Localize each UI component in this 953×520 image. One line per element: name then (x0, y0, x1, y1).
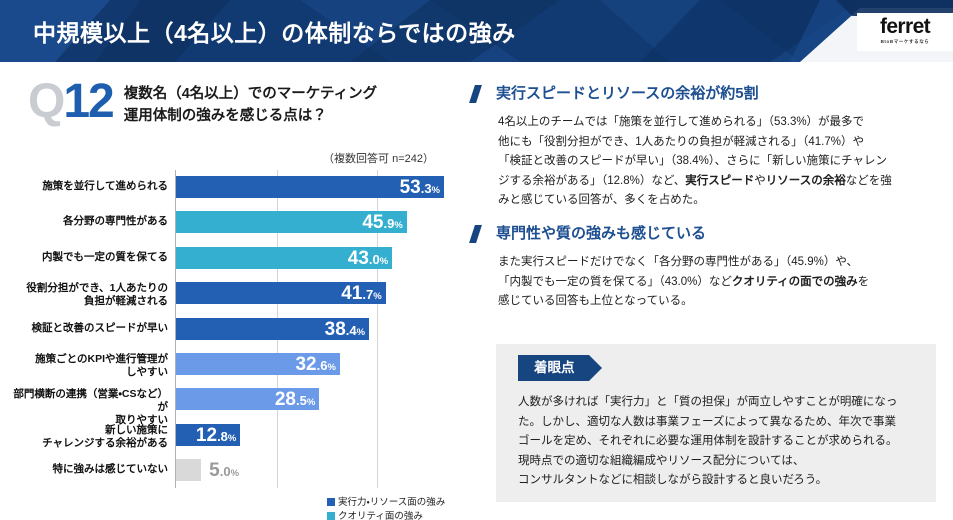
bar-category-label: 役割分担ができ、1人あたりの負担が軽減される (8, 282, 168, 308)
chart-legend: 実行力・リソース面の強みクオリティ面の強みその他の強み (327, 496, 445, 520)
section-1-heading-text: 実行スピードとリソースの余裕が約5割 (496, 85, 759, 102)
slash-accent-icon (469, 225, 482, 243)
section-1-bold-2: リソースの余裕 (766, 175, 846, 187)
bar-category-label: 検証と改善のスピードが早い (8, 322, 168, 335)
bar-category-label: 施策ごとのKPIや進行管理がしやすい (8, 353, 168, 379)
bar-category-label: 新しい施策にチャレンジする余裕がある (8, 424, 168, 450)
legend-item: 実行力・リソース面の強み (327, 496, 445, 510)
bar-value-dec: .7 (362, 287, 373, 302)
chart-bar-row: 施策ごとのKPIや進行管理がしやすい32.6% (0, 353, 470, 375)
bar-value-int: 43 (348, 248, 369, 269)
bar-value-label: 53.3% (400, 178, 440, 197)
legend-label: 実行力・リソース面の強み (338, 497, 445, 508)
chart-bar-row: 役割分担ができ、1人あたりの負担が軽減される41.7% (0, 282, 470, 304)
logo-tagline: BtoBマーケするなら (857, 39, 953, 45)
bar-value-int: 5 (209, 460, 220, 481)
bar-value-dec: .0 (369, 252, 380, 267)
legend-swatch-icon (327, 512, 335, 520)
section-1-body-mid: や (754, 175, 766, 187)
section-2: 専門性や質の強みも感じている また実行スピードだけでなく「各分野の専門性がある」… (470, 224, 953, 312)
chart-bar (176, 459, 201, 481)
legend-item: クオリティ面の強み (327, 510, 445, 520)
bar-category-label: 内製でも一定の質を保てる (8, 251, 168, 264)
bar-label-line: 施策を並行して進められる (8, 180, 168, 193)
bar-value-pct: % (228, 433, 236, 444)
section-2-heading: 専門性や質の強みも感じている (470, 224, 953, 244)
chart-bar-row: 部門横断の連携（営業・CSなど）が取りやすい28.5% (0, 388, 470, 410)
callout-body: 人数が多ければ「実行力」と「質の担保」が両立しやすことが明確になっ た。しかし、… (518, 393, 918, 491)
bar-category-label: 施策を並行して進められる (8, 180, 168, 193)
slide-root: 中規模以上（4名以上）の体制ならではの強み ferret BtoBマーケするなら… (0, 0, 953, 520)
question-number: Q12 (28, 80, 113, 124)
section-2-heading-text: 専門性や質の強みも感じている (496, 225, 706, 242)
bar-value-label: 5.0% (209, 461, 239, 480)
bar-value-label: 45.9% (362, 213, 402, 232)
bar-value-int: 41 (341, 283, 362, 304)
bar-value-dec: .8 (217, 429, 228, 444)
question-text-line1: 複数名（4名以上）でのマーケティング (124, 83, 377, 105)
bar-value-dec: .6 (317, 358, 328, 373)
logo-wordmark: ferret (857, 15, 953, 39)
section-1-body: 4名以上のチームでは「施策を並行して進められる」（53.3%）が最多で 他にも「… (498, 113, 953, 211)
bar-value-pct: % (327, 362, 335, 373)
bar-value-label: 41.7% (341, 284, 381, 303)
insight-callout: 着眼点 人数が多ければ「実行力」と「質の担保」が両立しやすことが明確になっ た。… (496, 344, 936, 502)
bar-value-pct: % (357, 327, 365, 338)
bar-label-line: 各分野の専門性がある (8, 215, 168, 228)
bar-value-dec: .9 (383, 216, 394, 231)
bar-label-line: 役割分担ができ、1人あたりの (8, 282, 168, 295)
bar-value-label: 38.4% (325, 320, 365, 339)
bar-value-label: 28.5% (275, 390, 315, 409)
bar-category-label: 各分野の専門性がある (8, 215, 168, 228)
right-column: 実行スピードとリソースの余裕が約5割 4名以上のチームでは「施策を並行して進めら… (470, 62, 953, 520)
bar-value-label: 12.8% (196, 426, 236, 445)
bar-category-label: 特に強みは感じていない (8, 463, 168, 476)
slide-header: 中規模以上（4名以上）の体制ならではの強み ferret BtoBマーケするなら (0, 0, 953, 62)
bar-label-line: しやすい (8, 366, 168, 379)
section-2-body: また実行スピードだけでなく「各分野の専門性がある」（45.9%）や、 「内製でも… (498, 253, 953, 312)
bar-value-pct: % (307, 397, 315, 408)
callout-tag: 着眼点 (518, 355, 589, 381)
bar-chart: 施策を並行して進められる53.3%各分野の専門性がある45.9%内製でも一定の質… (0, 170, 470, 510)
question-q-letter: Q (28, 75, 63, 128)
bar-value-dec: .5 (296, 393, 307, 408)
legend-swatch-icon (327, 498, 335, 506)
bar-value-int: 45 (362, 212, 383, 233)
bar-value-pct: % (380, 256, 388, 267)
section-1-bold-1: 実行スピード (685, 175, 754, 187)
bar-value-pct: % (373, 291, 381, 302)
bar-label-line: 特に強みは感じていない (8, 463, 168, 476)
bar-value-pct: % (394, 220, 402, 231)
bar-label-line: 内製でも一定の質を保てる (8, 251, 168, 264)
bar-value-label: 43.0% (348, 249, 388, 268)
bar-value-pct: % (432, 185, 440, 196)
bar-value-int: 38 (325, 319, 346, 340)
slash-accent-icon (469, 85, 482, 103)
section-1: 実行スピードとリソースの余裕が約5割 4名以上のチームでは「施策を並行して進めら… (470, 84, 953, 211)
page-title: 中規模以上（4名以上）の体制ならではの強み (33, 14, 516, 48)
question-text-line2: 運用体制の強みを感じる点は？ (124, 105, 377, 127)
bar-value-dec: .3 (421, 181, 432, 196)
bar-value-dec: .0 (220, 464, 231, 479)
chart-bar-row: 特に強みは感じていない5.0% (0, 459, 470, 481)
bar-label-line: 負担が軽減される (8, 295, 168, 308)
bar-label-line: チャレンジする余裕がある (8, 437, 168, 450)
bar-value-label: 32.6% (295, 355, 335, 374)
bar-value-int: 28 (275, 389, 296, 410)
question-text: 複数名（4名以上）でのマーケティング 運用体制の強みを感じる点は？ (124, 83, 377, 127)
response-note: （複数回答可 n=242） (323, 150, 434, 166)
bar-value-int: 53 (400, 177, 421, 198)
bar-label-line: 検証と改善のスピードが早い (8, 322, 168, 335)
question-block: Q12 複数名（4名以上）でのマーケティング 運用体制の強みを感じる点は？ (28, 80, 377, 127)
bar-value-int: 12 (196, 425, 217, 446)
chart-bar-row: 施策を並行して進められる53.3% (0, 176, 470, 198)
bar-value-int: 32 (295, 354, 316, 375)
left-column: Q12 複数名（4名以上）でのマーケティング 運用体制の強みを感じる点は？ （複… (0, 62, 470, 520)
bar-label-line: 部門横断の連携（営業・CSなど）が (8, 388, 168, 414)
bar-value-dec: .4 (346, 323, 357, 338)
bar-value-pct: % (231, 468, 239, 479)
question-q-number: 12 (63, 75, 112, 128)
bar-label-line: 新しい施策に (8, 424, 168, 437)
ferret-logo: ferret BtoBマーケするなら (857, 13, 953, 51)
chart-bar-row: 各分野の専門性がある45.9% (0, 211, 470, 233)
legend-label: クオリティ面の強み (338, 511, 423, 520)
chart-bar-row: 新しい施策にチャレンジする余裕がある12.8% (0, 424, 470, 446)
section-2-bold-1: クオリティの面での強み (732, 276, 858, 288)
chart-bar-row: 内製でも一定の質を保てる43.0% (0, 247, 470, 269)
bar-label-line: 施策ごとのKPIや進行管理が (8, 353, 168, 366)
bar-category-label: 部門横断の連携（営業・CSなど）が取りやすい (8, 388, 168, 427)
section-1-heading: 実行スピードとリソースの余裕が約5割 (470, 84, 953, 104)
chart-bar-row: 検証と改善のスピードが早い38.4% (0, 318, 470, 340)
